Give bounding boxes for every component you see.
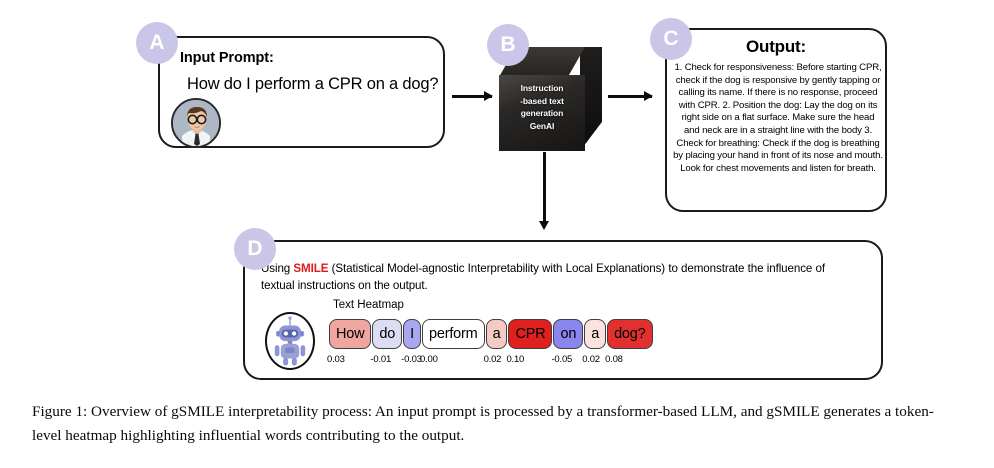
cube-label-line-1: Instruction xyxy=(521,83,564,93)
figure-caption: Figure 1: Overview of gSMILE interpretab… xyxy=(32,400,962,448)
panel-input-prompt: Input Prompt: How do I perform a CPR on … xyxy=(158,36,445,148)
heatmap-token: I xyxy=(403,319,421,349)
smile-keyword: SMILE xyxy=(293,262,328,275)
output-body-text: 1. Check for responsiveness: Before star… xyxy=(673,62,883,175)
input-prompt-title: Input Prompt: xyxy=(180,50,274,66)
figure-container: A Input Prompt: How do I perform a CPR o… xyxy=(0,0,994,468)
smile-description: Using SMILE (Statistical Model-agnostic … xyxy=(261,260,825,294)
heatmap-token-value: 0.10 xyxy=(506,354,524,365)
heatmap-token: a xyxy=(486,319,508,349)
heatmap-token: perform xyxy=(422,319,485,349)
arrow-a-to-b xyxy=(452,95,492,98)
robot-icon xyxy=(265,312,315,370)
heatmap-token: do xyxy=(372,319,402,349)
heatmap-token-value: 0.03 xyxy=(327,354,345,365)
smile-description-suffix: (Statistical Model-agnostic Interpretabi… xyxy=(261,262,825,292)
heatmap-title: Text Heatmap xyxy=(333,299,404,311)
panel-smile-explanation: Using SMILE (Statistical Model-agnostic … xyxy=(243,240,883,380)
cube-label-line-2: -based text xyxy=(520,96,564,106)
heatmap-token: on xyxy=(553,319,583,349)
cube-label: Instruction -based text generation GenAI xyxy=(503,82,581,132)
heatmap-tokens-row: HowdoIperformaCPRonadog? xyxy=(329,319,654,349)
badge-b: B xyxy=(487,24,529,66)
output-title: Output: xyxy=(667,37,885,57)
panel-output: Output: 1. Check for responsiveness: Bef… xyxy=(665,28,887,212)
heatmap-token-value: 0.00 xyxy=(420,354,438,365)
badge-d: D xyxy=(234,228,276,270)
heatmap-token: CPR xyxy=(508,319,552,349)
heatmap-token: dog? xyxy=(607,319,652,349)
heatmap-token-value: -0.05 xyxy=(551,354,572,365)
heatmap-token-value: -0.01 xyxy=(370,354,391,365)
heatmap-token-value: 0.08 xyxy=(605,354,623,365)
heatmap-token-value: 0.02 xyxy=(484,354,502,365)
input-prompt-text: How do I perform a CPR on a dog? xyxy=(187,75,438,94)
arrow-b-to-d xyxy=(543,152,546,222)
heatmap-token-value: 0.02 xyxy=(582,354,600,365)
heatmap-token: How xyxy=(329,319,371,349)
badge-c: C xyxy=(650,18,692,60)
arrow-b-to-c xyxy=(608,95,652,98)
cube-label-line-3: generation xyxy=(521,108,563,118)
heatmap-token: a xyxy=(584,319,606,349)
cube-label-line-4: GenAI xyxy=(530,121,555,131)
user-avatar-icon xyxy=(171,98,221,148)
heatmap-token-value: -0.03 xyxy=(401,354,422,365)
badge-a: A xyxy=(136,22,178,64)
